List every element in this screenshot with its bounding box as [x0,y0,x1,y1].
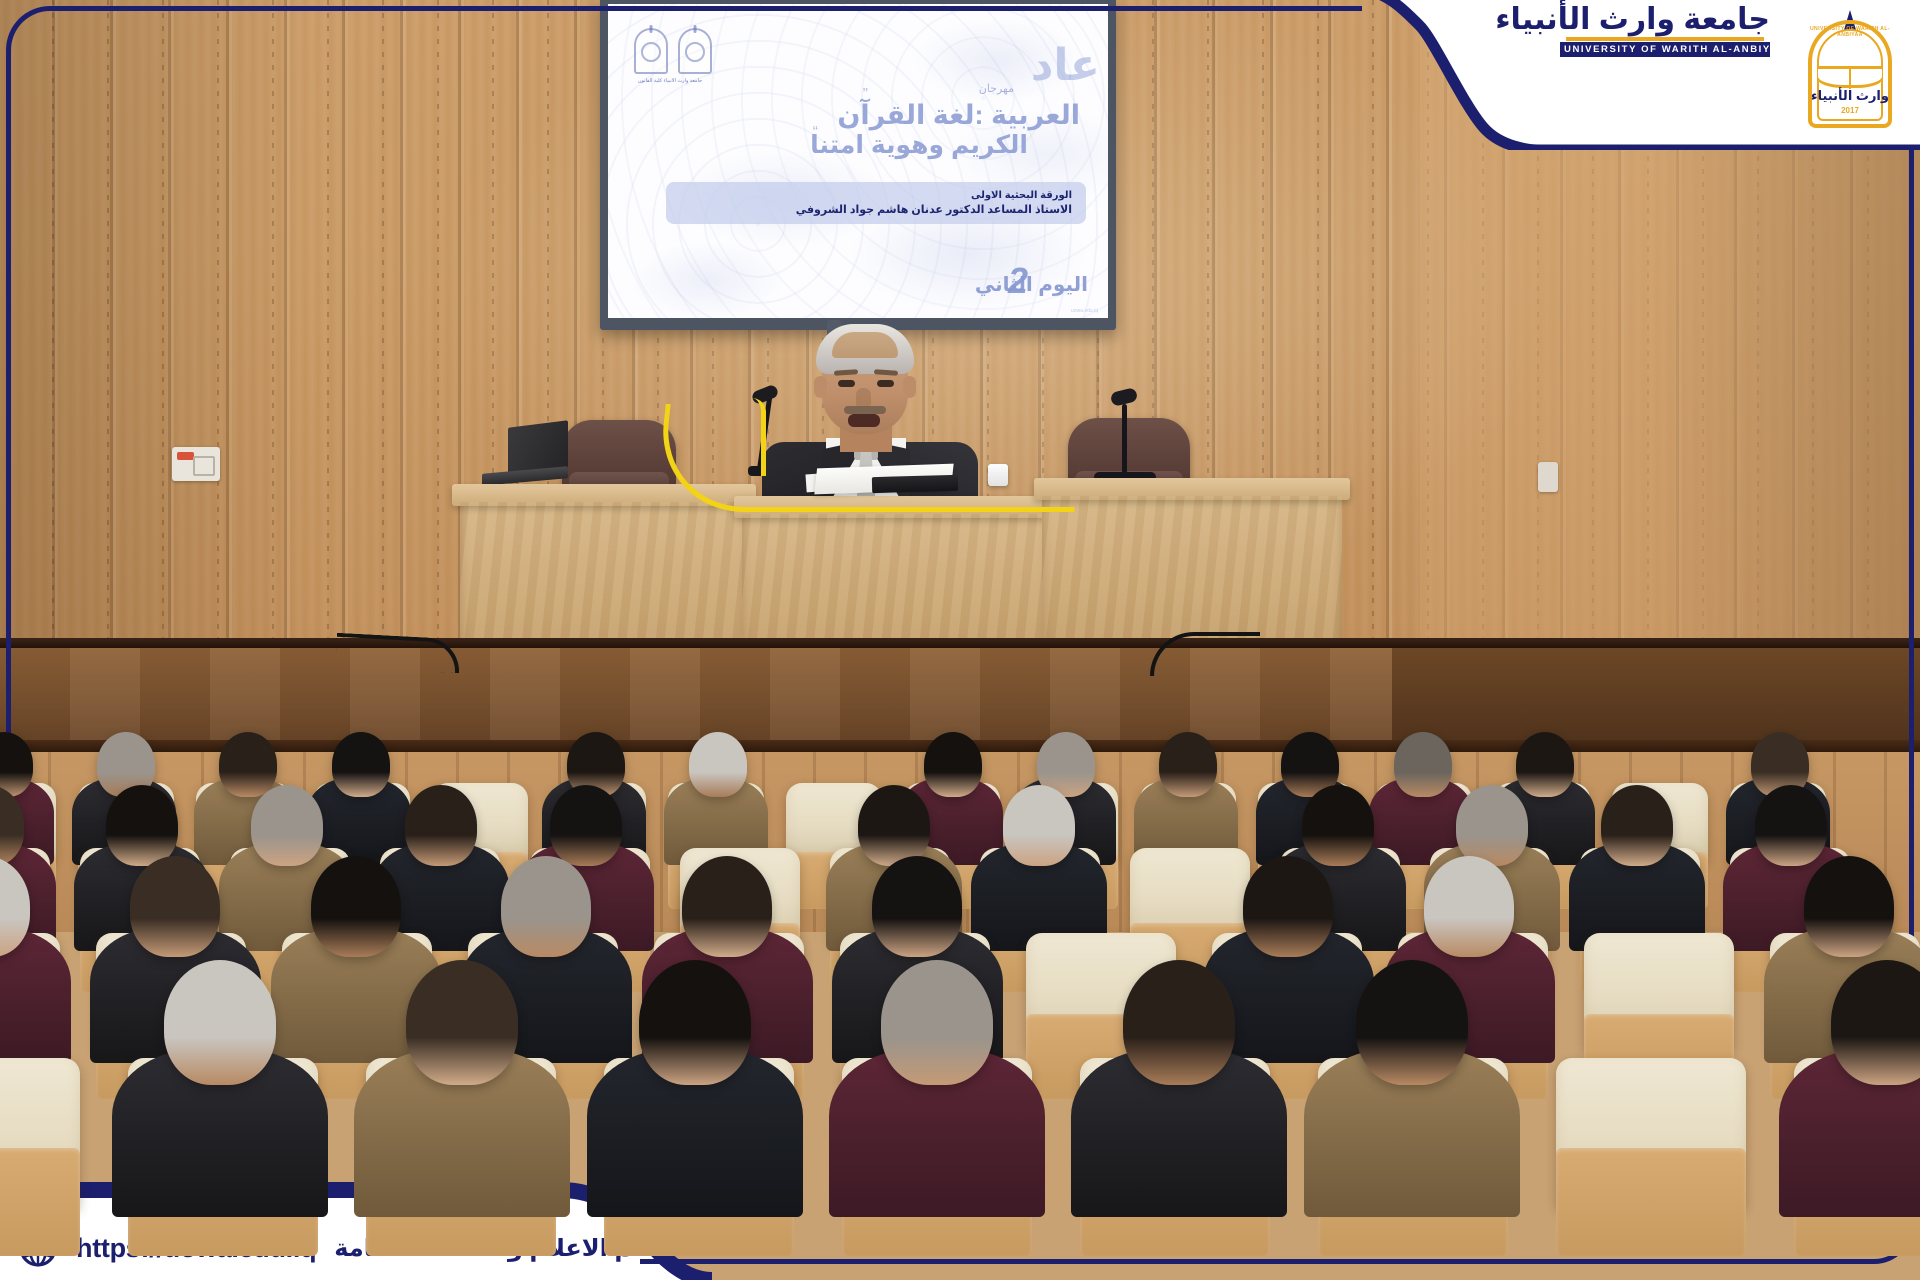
photo-card: جامعة وارث الانبياء كلية القانون عاد ” م… [0,0,1920,1280]
slide-crest-caption: جامعة وارث الانبياء كلية القانون [634,78,706,86]
slide-headline-fragment: عاد [1031,40,1100,91]
footer-content: https://uowa.edu.iq قسم الاعلام والعلاقا… [18,1228,674,1268]
audience-person-head [639,960,751,1085]
projector-screen: جامعة وارث الانبياء كلية القانون عاد ” م… [600,0,1116,330]
audience-seat [1130,848,1250,944]
wall-socket-left [172,447,220,481]
audience-person-head [1356,960,1468,1085]
slide-paper-label: الورقة البحثية الاولى [971,190,1072,201]
slide-title-line-1: العربية :لغة القرآن [837,100,1080,131]
audience-person-head [251,785,323,866]
audience-person-head [550,785,622,866]
wordmark-english: UNIVERSITY OF WARITH AL-ANBIYAA [1560,42,1770,57]
audience-person-head [881,960,993,1085]
audience-person-head [219,732,277,797]
presenter-hair [816,324,914,374]
stage-trim [0,638,1920,648]
audience-person-head [1601,785,1673,866]
presenter-eye-left [838,380,855,387]
audience-person-head [311,856,401,957]
seat-wood-back [0,1148,80,1256]
presenter-eye-right [877,380,894,387]
footer-navy-rule [640,1259,1868,1264]
wall-socket-right [1538,462,1558,492]
projector-slide: جامعة وارث الانبياء كلية القانون عاد ” م… [608,4,1108,318]
audience-person-head [1302,785,1374,866]
audience-seat [0,1058,80,1208]
audience-seat [1556,1058,1746,1208]
audience-person-head [872,856,962,957]
audience-person-head [858,785,930,866]
yellow-cable-riser [752,398,766,476]
microphone-arm-right [1122,404,1127,480]
presenter-ear-right [903,376,916,398]
audience-person-head [1394,732,1452,797]
audience-area [0,650,1920,1280]
audience-seat [1584,933,1734,1051]
audience-person-head [406,960,518,1085]
audience-person-head [689,732,747,797]
audience-person-head [130,856,220,957]
audience-person-head [1804,856,1894,957]
audience-person-head [1456,785,1528,866]
audience-person-head [1243,856,1333,957]
audience-person-head [332,732,390,797]
slide-festival-label: مهرجان [979,82,1014,95]
audience-person-head [1123,960,1235,1085]
event-photograph: جامعة وارث الانبياء كلية القانون عاد ” م… [0,0,1920,1280]
frame-rule-top [62,6,1362,11]
slide-day-number: 2 [1008,260,1028,302]
audience-person-head [164,960,276,1085]
slide-title-line-2: الكريم وهوية امتنا [810,130,1028,160]
audience-person-head [1159,732,1217,797]
slide-footer-mark: uowa.edu.iq [1071,308,1098,314]
slide-day-label: اليوم الثاني [975,272,1088,297]
slide-crest-group [634,28,712,74]
slide-speaker-name: الاستاذ المساعد الدكتور عدنان هاشم جواد … [796,203,1072,216]
university-crest-icon [634,28,668,74]
slide-speaker-band: الورقة البحثية الاولى الاستاذ المساعد ال… [666,182,1086,224]
audience-person-head [1424,856,1514,957]
college-crest-icon [678,28,712,74]
audience-person-head [924,732,982,797]
audience-person-head [1755,785,1827,866]
emblem-open-book-icon [1818,66,1882,88]
university-emblem-icon: UNIVERSITY OF WARITH AL-ANBIYAA وارث الأ… [1798,14,1902,132]
wordmark-arabic: جامعة وارث الأنبياء [1560,4,1770,36]
emblem-arabic-text: وارث الأنبياء [1798,88,1902,104]
presenter-ear-left [814,376,827,398]
yellow-cable [654,404,1085,512]
audience-person-head [405,785,477,866]
audience-person-head [1516,732,1574,797]
university-wordmark: جامعة وارث الأنبياء UNIVERSITY OF WARITH… [1560,4,1770,57]
audience-person-head [106,785,178,866]
audience-person-head [1003,785,1075,866]
seat-wood-back [1556,1148,1746,1256]
emblem-year: 2017 [1798,106,1902,115]
audience-person-head [501,856,591,957]
audience-person-head [682,856,772,957]
wordmark-gold-rule [1566,37,1764,41]
